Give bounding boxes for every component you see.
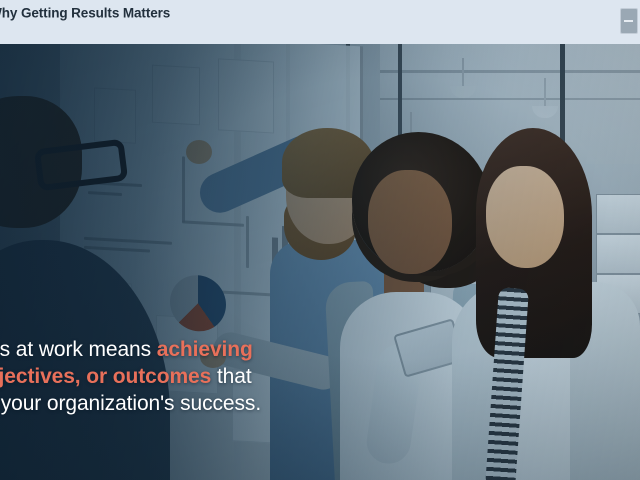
page-root: Briefs® Why Getting Results Matters ion: [0, 0, 640, 480]
headline-line2-accent: oals, objectives, or outcomes: [0, 365, 211, 388]
hero-headline: ng results at work means achieving oals,…: [0, 336, 340, 417]
headline-line3-plain: ribute to your organization's success.: [0, 392, 261, 415]
page-title-rest: Why Getting Results Matters: [0, 6, 170, 21]
page-title: Briefs® Why Getting Results Matters: [0, 5, 170, 21]
window-control-icon[interactable]: [620, 8, 638, 34]
headline-line1-accent: achieving: [157, 338, 253, 361]
site-header: Briefs® Why Getting Results Matters ion: [0, 0, 640, 44]
hero-banner: ng results at work means achieving oals,…: [0, 44, 640, 480]
window-control-glyph: [624, 20, 633, 22]
headline-line2-plain: that: [211, 365, 251, 388]
headline-line1-plain: ng results at work means: [0, 338, 157, 361]
